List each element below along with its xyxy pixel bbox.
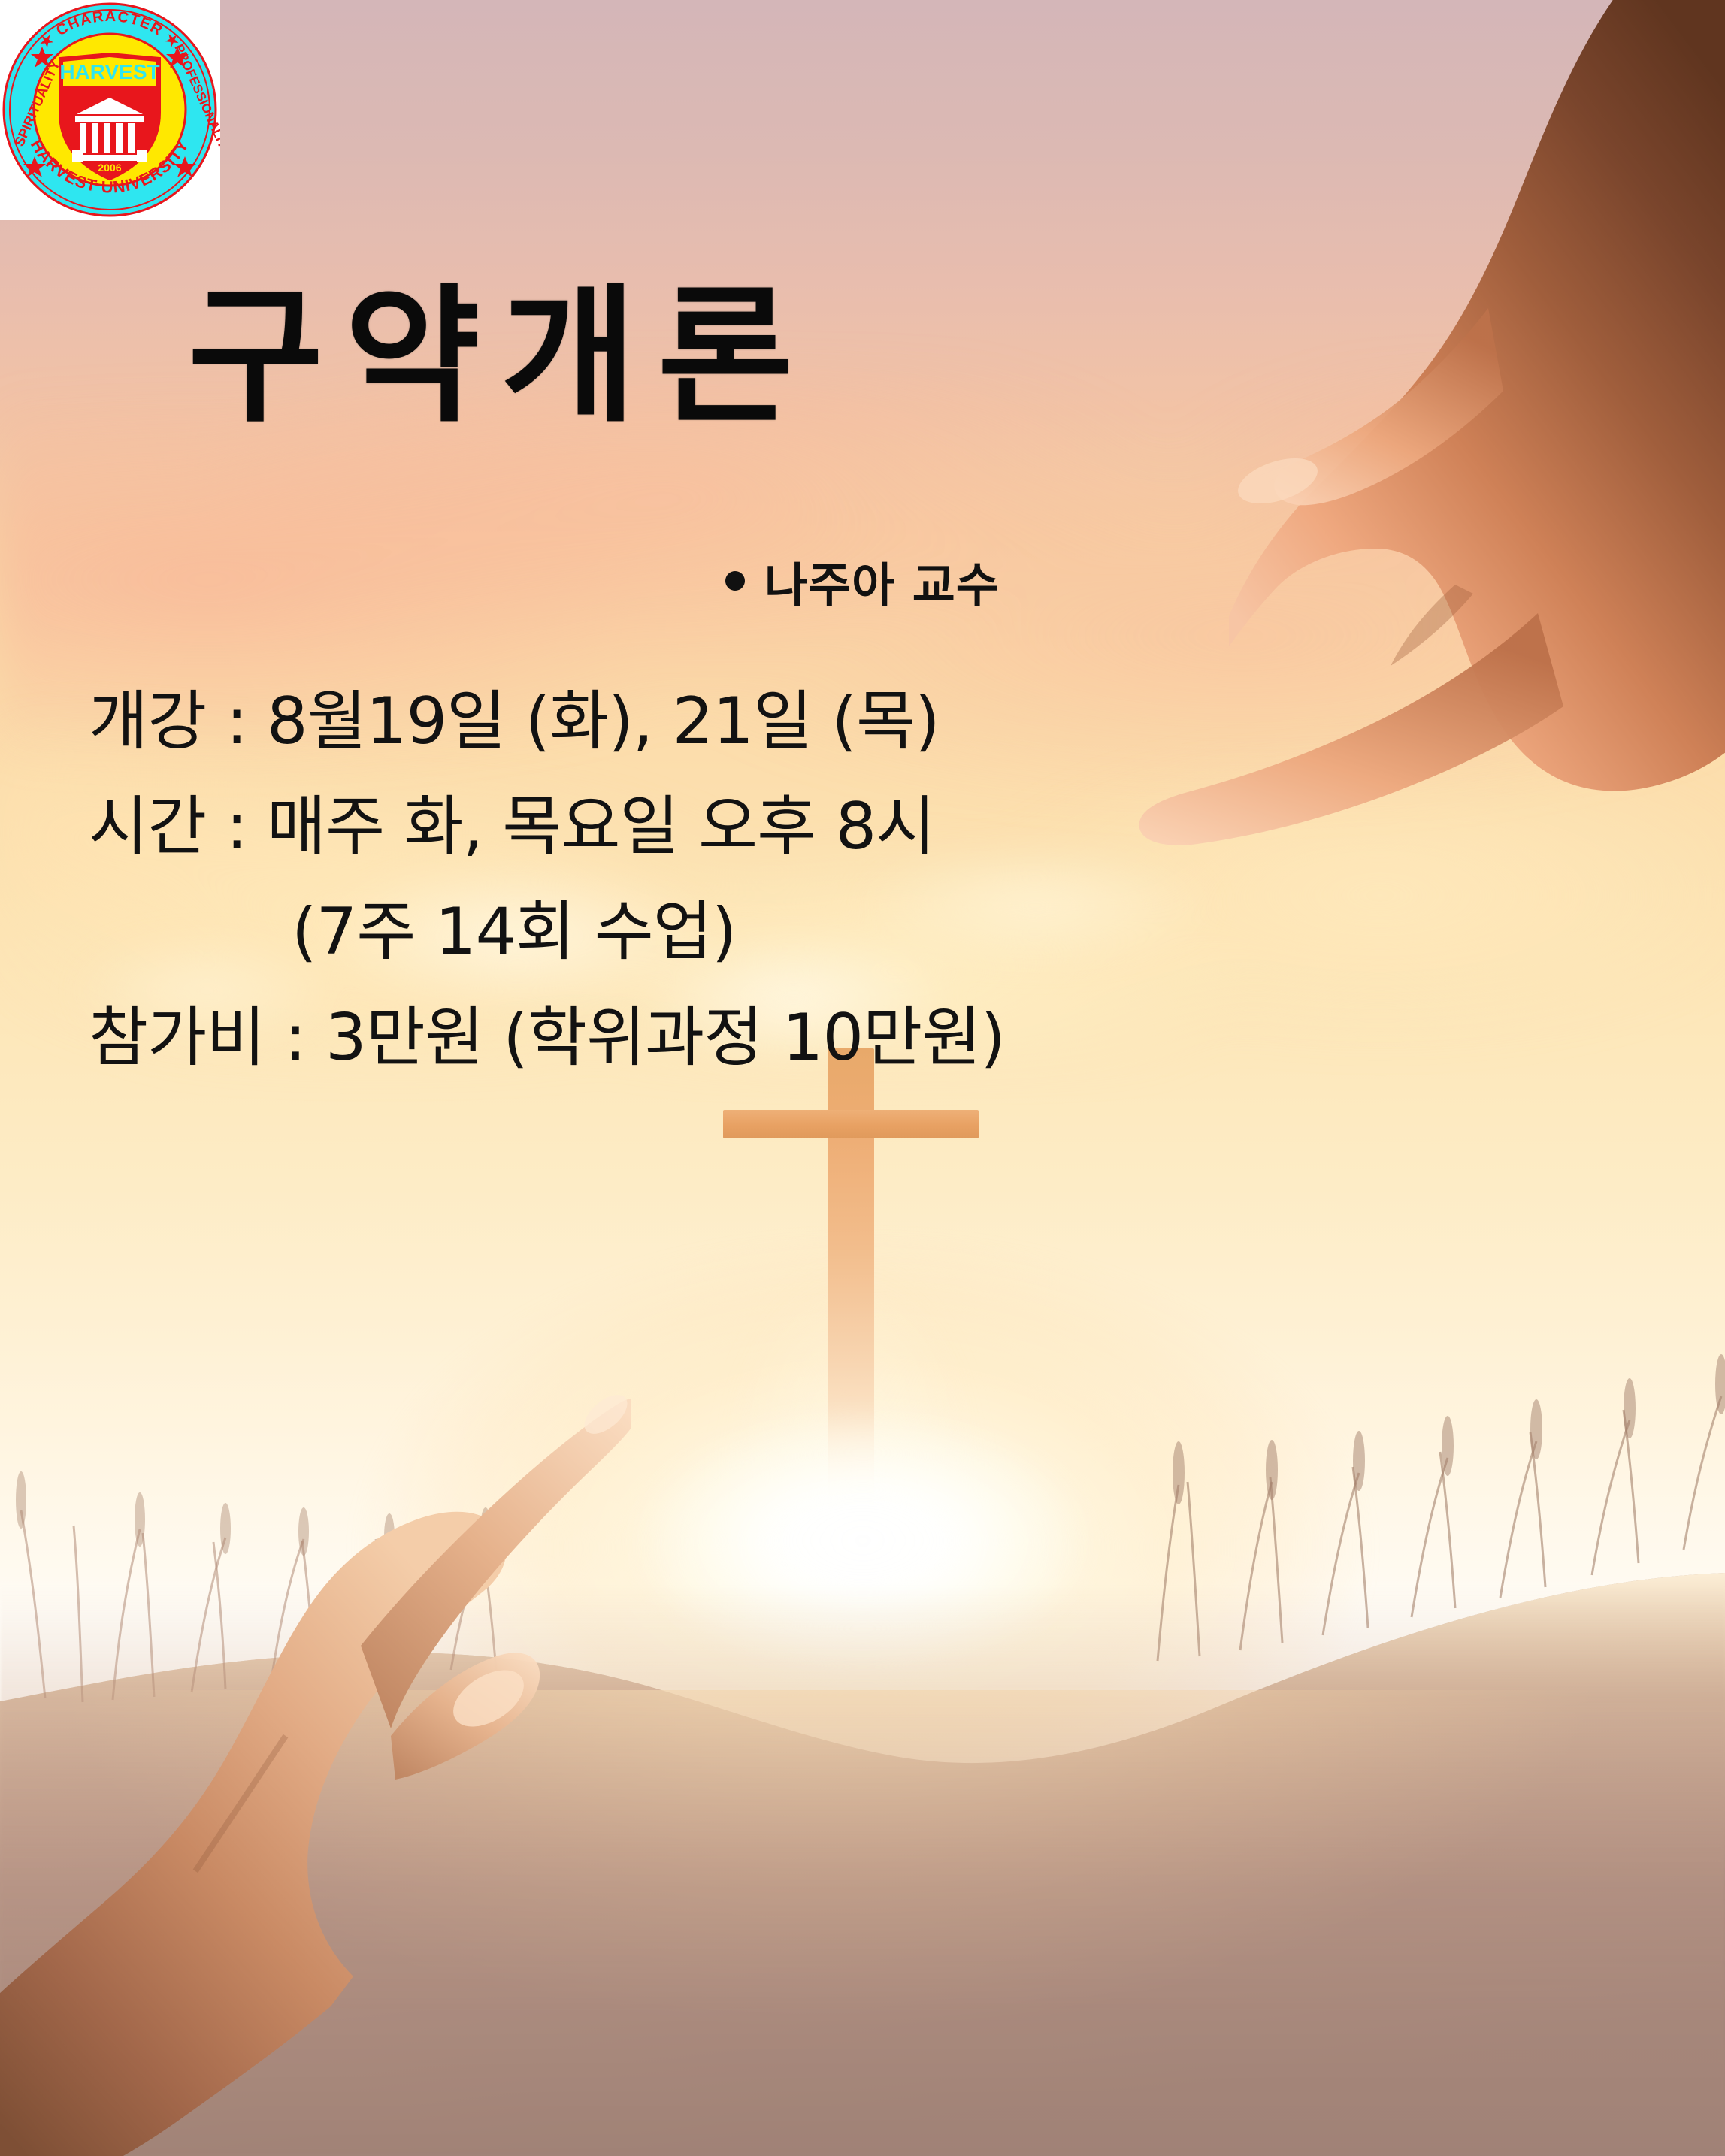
presenter-name: 나주아 교수 — [764, 547, 1000, 615]
hand-below-icon — [0, 1345, 631, 2156]
detail-line-sessions: (7주 14회 수업) — [89, 879, 1366, 984]
seal-shield-label: HARVEST — [59, 60, 159, 83]
reaching-hand-from-below — [0, 1345, 631, 2156]
page-title: 구약개론 — [188, 280, 814, 436]
detail-line-schedule: 시간 : 매주 화, 목요일 오후 8시 — [89, 774, 1366, 879]
seal-year: 2006 — [98, 162, 121, 174]
detail-line-start-date: 개강 : 8월19일 (화), 21일 (목) — [89, 669, 1366, 774]
harvest-university-seal[interactable]: ★ CHARACTER ★ SPIRITUALITY PROFESSIONALI… — [0, 0, 220, 220]
bullet-dot-icon — [725, 571, 745, 591]
presenter-line: 나주아 교수 — [725, 547, 1000, 615]
course-details: 개강 : 8월19일 (화), 21일 (목) 시간 : 매주 화, 목요일 오… — [89, 669, 1366, 1090]
detail-line-fee: 참가비 : 3만원 (학위과정 10만원) — [89, 985, 1366, 1090]
poster-canvas: ★ CHARACTER ★ SPIRITUALITY PROFESSIONALI… — [0, 0, 1725, 2156]
harvest-seal-icon: ★ CHARACTER ★ SPIRITUALITY PROFESSIONALI… — [0, 0, 220, 220]
